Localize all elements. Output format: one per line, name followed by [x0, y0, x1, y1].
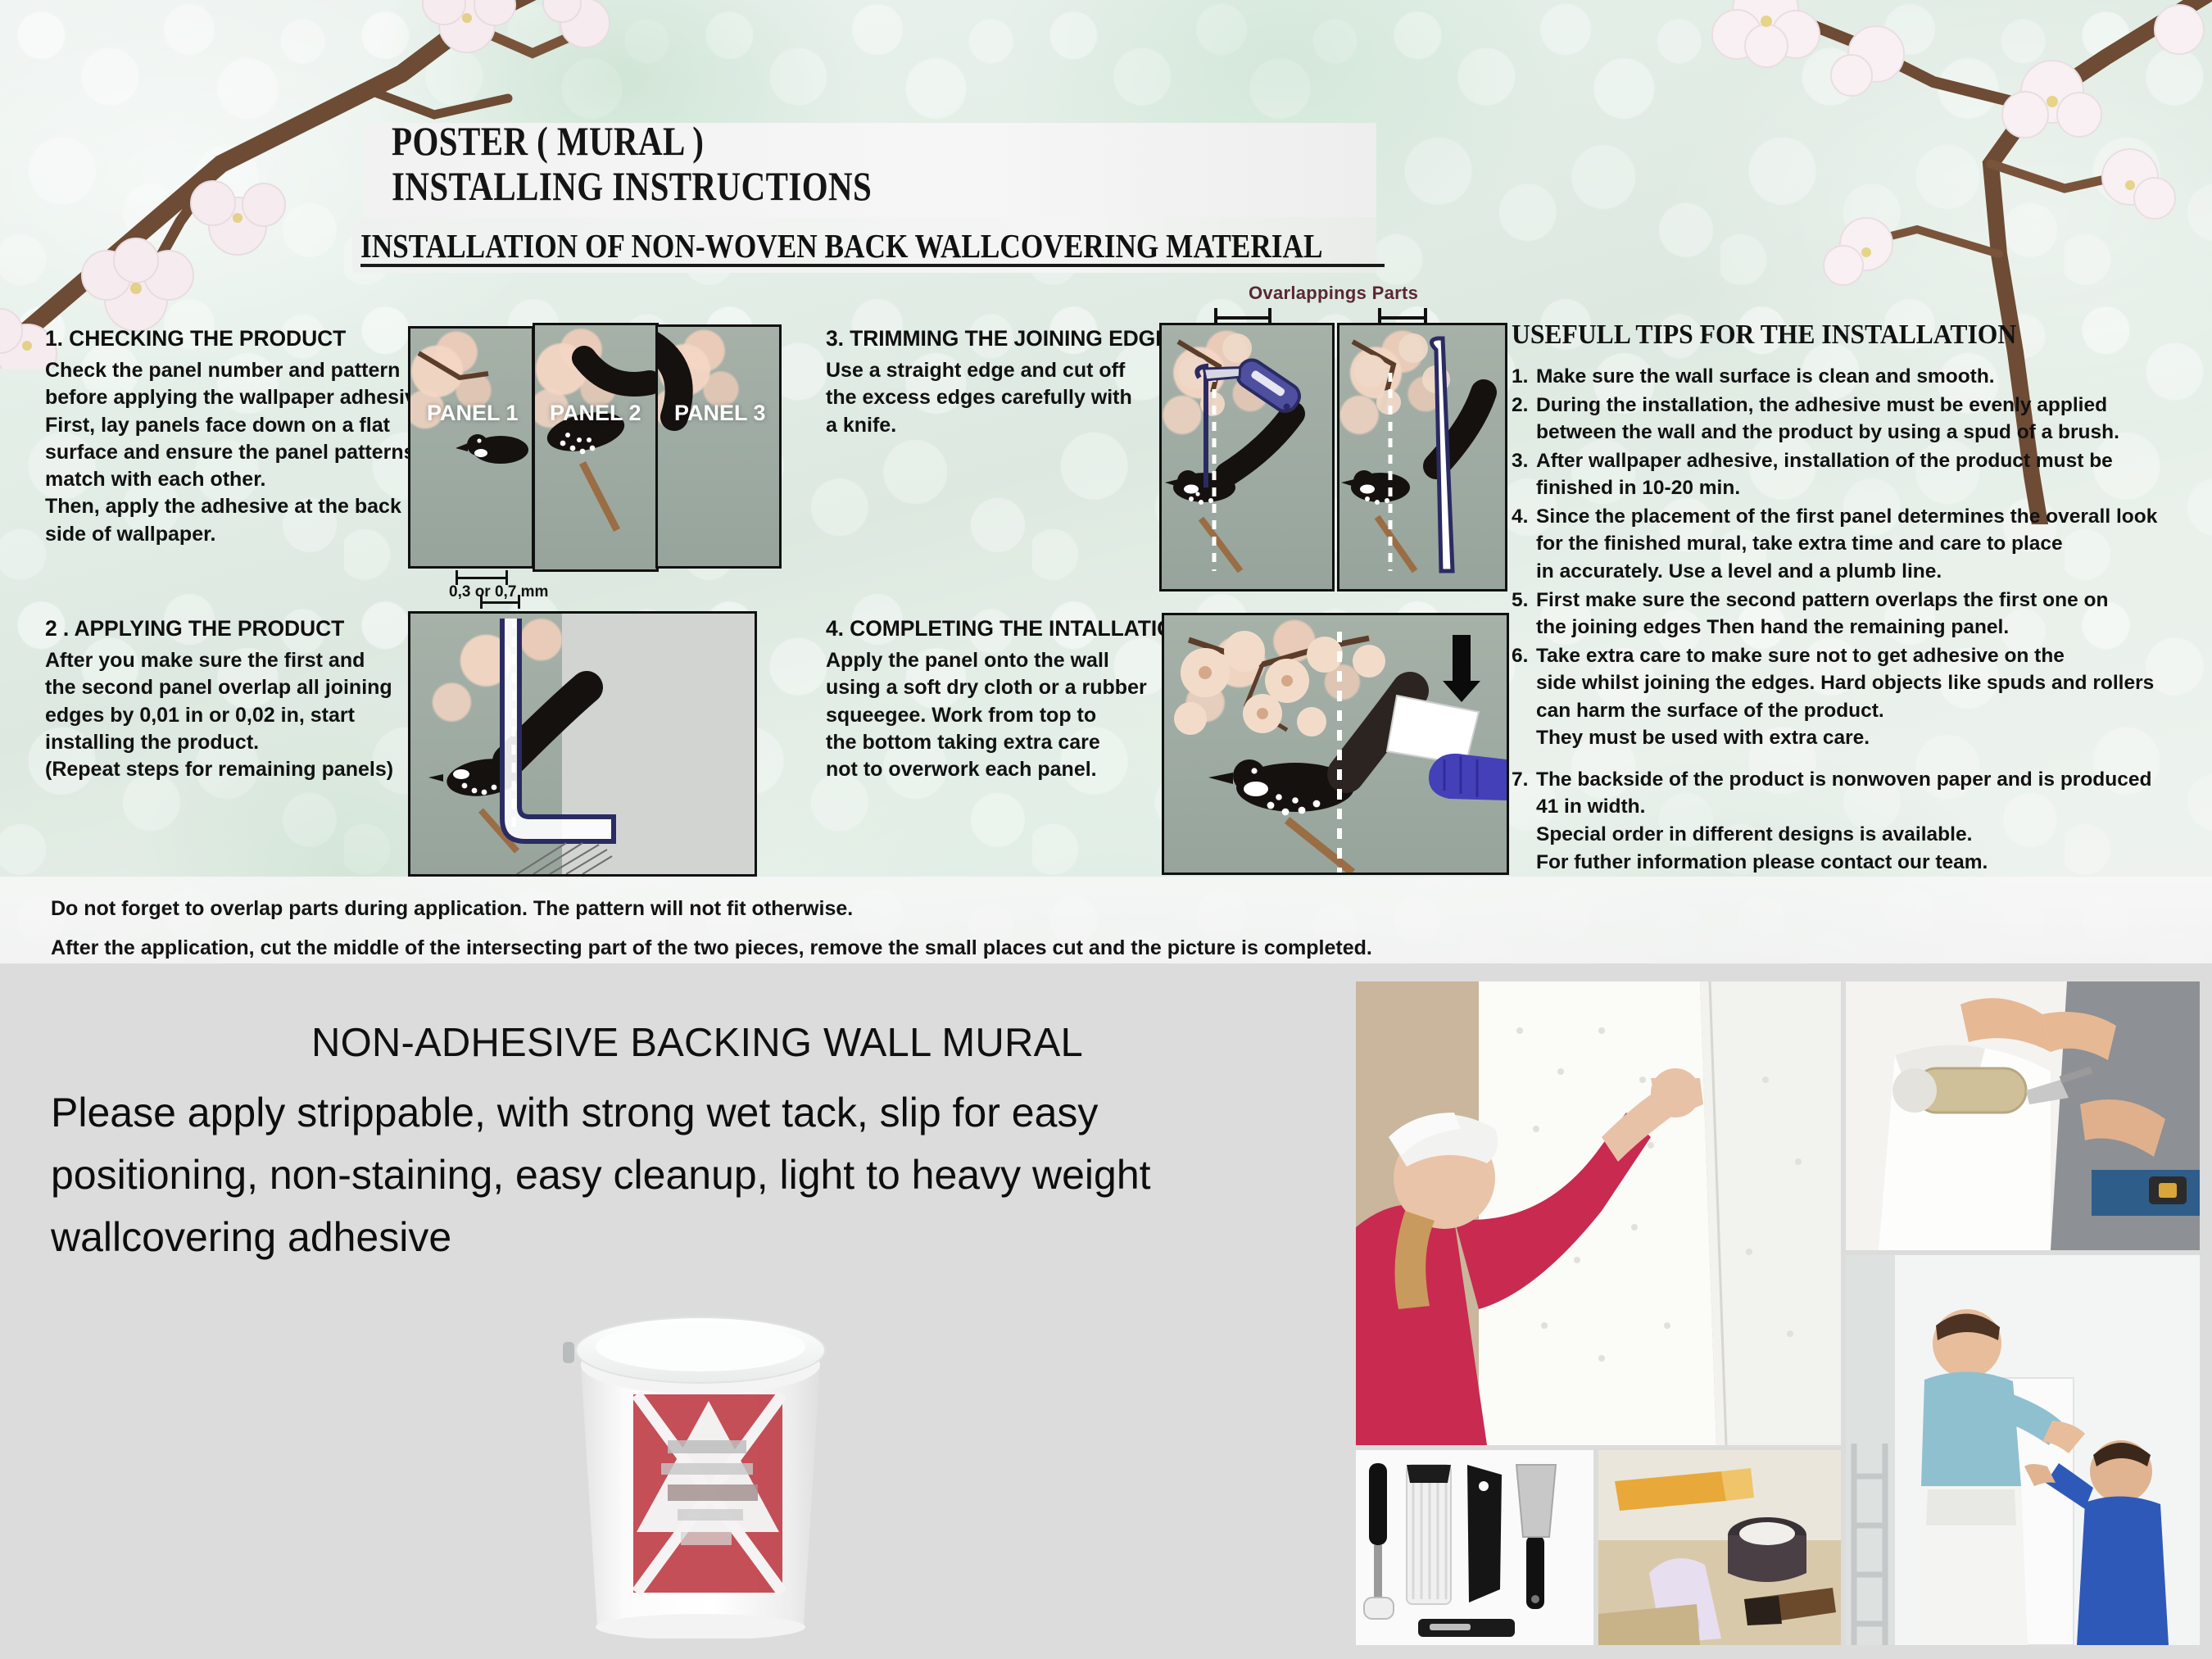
straightedge-art [1339, 325, 1505, 589]
trimming-illustration-knife [1159, 323, 1335, 592]
ov-dim-line-a [1214, 316, 1271, 320]
squeegee-art [1164, 615, 1507, 873]
photo-collage [1356, 981, 2200, 1645]
note-cut-middle: After the application, cut the middle of… [51, 936, 1372, 960]
tip-text: Since the placement of the first panel d… [1536, 503, 2157, 586]
tip-number: 4. [1512, 503, 1536, 586]
note-overlap: Do not forget to overlap parts during ap… [51, 897, 853, 921]
useful-tips-panel: USEFULL TIPS FOR THE INSTALLATION 1. Mak… [1512, 320, 2167, 877]
panel-label-2: PANEL 2 [550, 401, 641, 426]
photo-wallpaper-tool-kit [1356, 1450, 1593, 1645]
knife-cut-art [1162, 325, 1332, 589]
promo-heading: NON-ADHESIVE BACKING WALL MURAL [311, 1020, 1083, 1066]
tip-item: 2. During the installation, the adhesive… [1512, 392, 2167, 446]
step-applying-the-product: 2 . APPLYING THE PRODUCT After you make … [45, 616, 430, 783]
installation-instructions-poster: POSTER ( MURAL ) INSTALLING INSTRUCTIONS… [0, 0, 2212, 1659]
overlap-diagram-art [410, 614, 755, 874]
tip-item: 6. Take extra care to make sure not to g… [1512, 642, 2167, 752]
overlap-illustration [408, 611, 757, 877]
panel-label-1: PANEL 1 [427, 401, 519, 426]
panel-3-illustration: PANEL 3 [655, 324, 782, 569]
paste-roller-image [1846, 981, 2200, 1250]
bird-art-2 [535, 325, 656, 569]
step-body: Apply the panel onto the wall using a so… [826, 647, 1186, 783]
tip-item: 1. Make sure the wall surface is clean a… [1512, 363, 2167, 391]
tip-text: The backside of the product is nonwoven … [1536, 766, 2151, 876]
step-completing-the-installation: 4. COMPLETING THE INTALLATION Apply the … [826, 616, 1186, 783]
step-title: 4. COMPLETING THE INTALLATION [826, 616, 1186, 641]
panel-2-illustration: PANEL 2 [533, 323, 659, 572]
bucket-label [633, 1394, 782, 1593]
promo-description: Please apply strippable, with strong wet… [51, 1081, 1329, 1268]
overlap-dim-line [480, 601, 519, 604]
thickness-dim-line [456, 577, 508, 579]
step-title: 2 . APPLYING THE PRODUCT [45, 616, 430, 641]
instruction-sheet: POSTER ( MURAL ) INSTALLING INSTRUCTIONS… [0, 0, 2212, 963]
step-body: Use a straight edge and cut off the exce… [826, 357, 1178, 439]
tip-number: 2. [1512, 392, 1536, 446]
page-subtitle: INSTALLATION OF NON-WOVEN BACK WALLCOVER… [360, 226, 1323, 265]
tip-item: 7. The backside of the product is nonwov… [1512, 766, 2167, 876]
photo-two-people-hanging-mural [1846, 1255, 2200, 1645]
tip-text: Make sure the wall surface is clean and … [1536, 363, 1995, 391]
step-checking-the-product: 1. CHECKING THE PRODUCT Check the panel … [45, 326, 430, 548]
tip-text: First make sure the second pattern overl… [1536, 587, 2108, 641]
page-title-line2: INSTALLING INSTRUCTIONS [392, 162, 872, 210]
tip-text: After wallpaper adhesive, installation o… [1536, 447, 2113, 502]
panel-label-3: PANEL 3 [674, 401, 766, 426]
bird-art-1 [410, 329, 532, 566]
tools-and-roll-image [1598, 1450, 1841, 1645]
overlap-dim-tick-left [480, 595, 483, 609]
tip-number: 7. [1512, 766, 1536, 876]
photo-tools-and-wallpaper-roll [1598, 1450, 1841, 1645]
step-trimming-the-joining-edges: 3. TRIMMING THE JOINING EDGES Use a stra… [826, 326, 1178, 439]
tip-number: 1. [1512, 363, 1536, 391]
tip-number: 6. [1512, 642, 1536, 752]
tip-text: During the installation, the adhesive mu… [1536, 392, 2119, 446]
tips-title: USEFULL TIPS FOR THE INSTALLATION [1512, 320, 2121, 351]
tool-kit-image [1356, 1450, 1593, 1645]
photo-applying-paste-with-roller [1846, 981, 2200, 1250]
trimming-illustration-straightedge [1337, 323, 1507, 592]
step-body: After you make sure the first and the se… [45, 647, 430, 783]
photo-woman-applying-wallpaper [1356, 981, 1841, 1445]
step-body: Check the panel number and pattern befor… [45, 357, 430, 548]
tip-item: 3. After wallpaper adhesive, installatio… [1512, 447, 2167, 502]
adhesive-bucket-image [545, 1286, 856, 1639]
bird-tail-art-3 [658, 327, 779, 566]
ov-dim-line-b [1378, 316, 1427, 320]
team-hanging-mural-image [1846, 1255, 2200, 1645]
subtitle-underline [360, 264, 1385, 267]
tip-text: Take extra care to make sure not to get … [1536, 642, 2154, 752]
tip-number: 3. [1512, 447, 1536, 502]
thickness-label: 0,3 or 0,7 mm [449, 583, 548, 601]
tip-item: 4. Since the placement of the first pane… [1512, 503, 2167, 586]
step-title: 3. TRIMMING THE JOINING EDGES [826, 326, 1178, 351]
tips-spacer [1512, 753, 2167, 766]
page-title-line1: POSTER ( MURAL ) [392, 117, 704, 165]
overlapping-parts-label: Ovarlappings Parts [1249, 283, 1418, 304]
tip-item: 5. First make sure the second pattern ov… [1512, 587, 2167, 641]
woman-applying-wallpaper-image [1356, 981, 1841, 1445]
arrow-down-icon [1443, 635, 1480, 702]
step-title: 1. CHECKING THE PRODUCT [45, 326, 430, 351]
tip-number: 5. [1512, 587, 1536, 641]
panel-1-illustration: PANEL 1 [408, 326, 534, 569]
completing-illustration [1162, 613, 1509, 875]
overlap-dim-tick-right [518, 595, 520, 609]
